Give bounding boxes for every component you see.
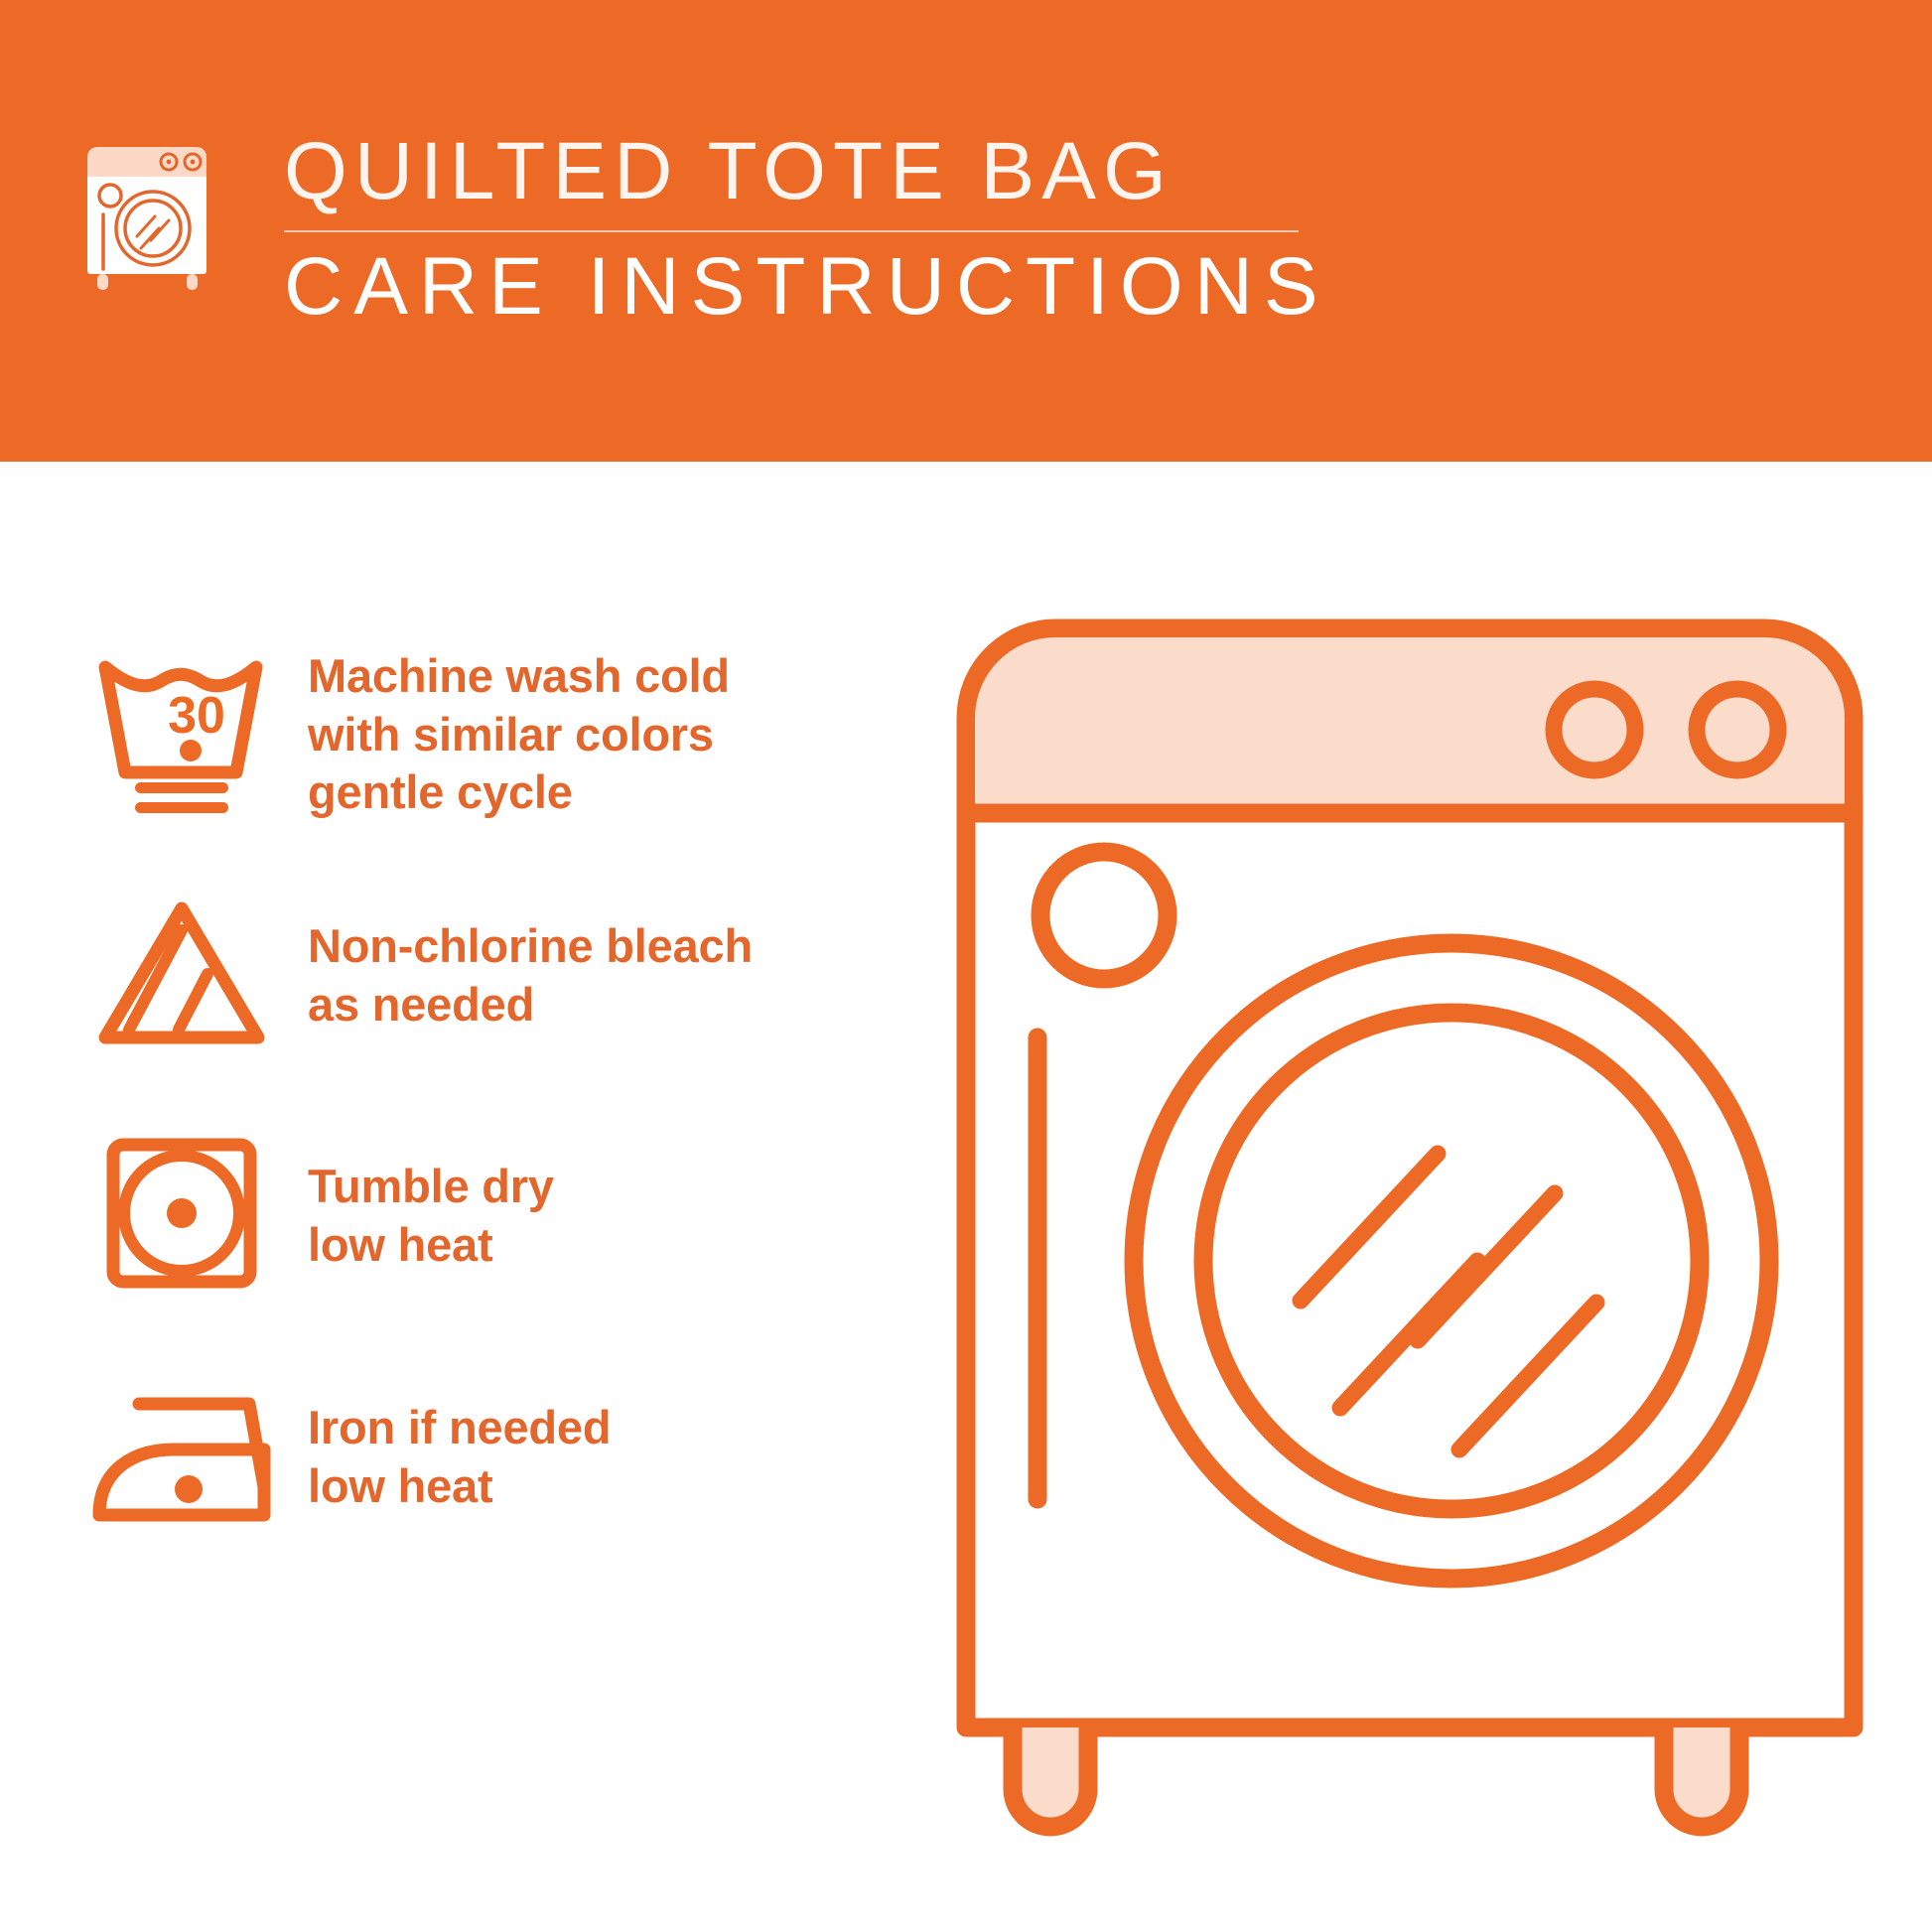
knob-right [1697, 689, 1778, 770]
tumble-dry-icon [77, 1117, 286, 1315]
header-title-block: QUILTED TOTE BAG CARE INSTRUCTIONS [284, 129, 1307, 330]
wash-basin-30-icon: 30 [77, 635, 286, 834]
page-title: QUILTED TOTE BAG [284, 129, 1307, 213]
wash-temperature-label: 30 [168, 687, 225, 745]
page-subtitle: CARE INSTRUCTIONS [284, 244, 1307, 329]
iron-icon [77, 1358, 286, 1557]
care-row-tumble-dry: Tumble dry low heat [0, 1117, 894, 1315]
care-label-tumble-dry: Tumble dry low heat [308, 1158, 554, 1275]
care-label-bleach: Non-chlorine bleach as needed [308, 917, 753, 1035]
header-banner: QUILTED TOTE BAG CARE INSTRUCTIONS [0, 0, 1932, 462]
title-divider [284, 230, 1299, 232]
care-row-iron: Iron if needed low heat [0, 1358, 894, 1557]
care-label-iron: Iron if needed low heat [308, 1399, 611, 1516]
knob-left [1554, 689, 1635, 770]
washing-machine-icon [77, 137, 216, 296]
care-label-machine-wash: Machine wash cold with similar colors ge… [308, 647, 730, 822]
care-row-bleach: Non-chlorine bleach as needed [0, 877, 894, 1075]
leg-left [1013, 1727, 1088, 1827]
washing-machine-illustration [953, 616, 1866, 1847]
leg-right [1664, 1727, 1739, 1827]
care-row-machine-wash: 30 Machine wash cold with similar colors… [0, 635, 894, 834]
bleach-triangle-icon [77, 877, 286, 1075]
